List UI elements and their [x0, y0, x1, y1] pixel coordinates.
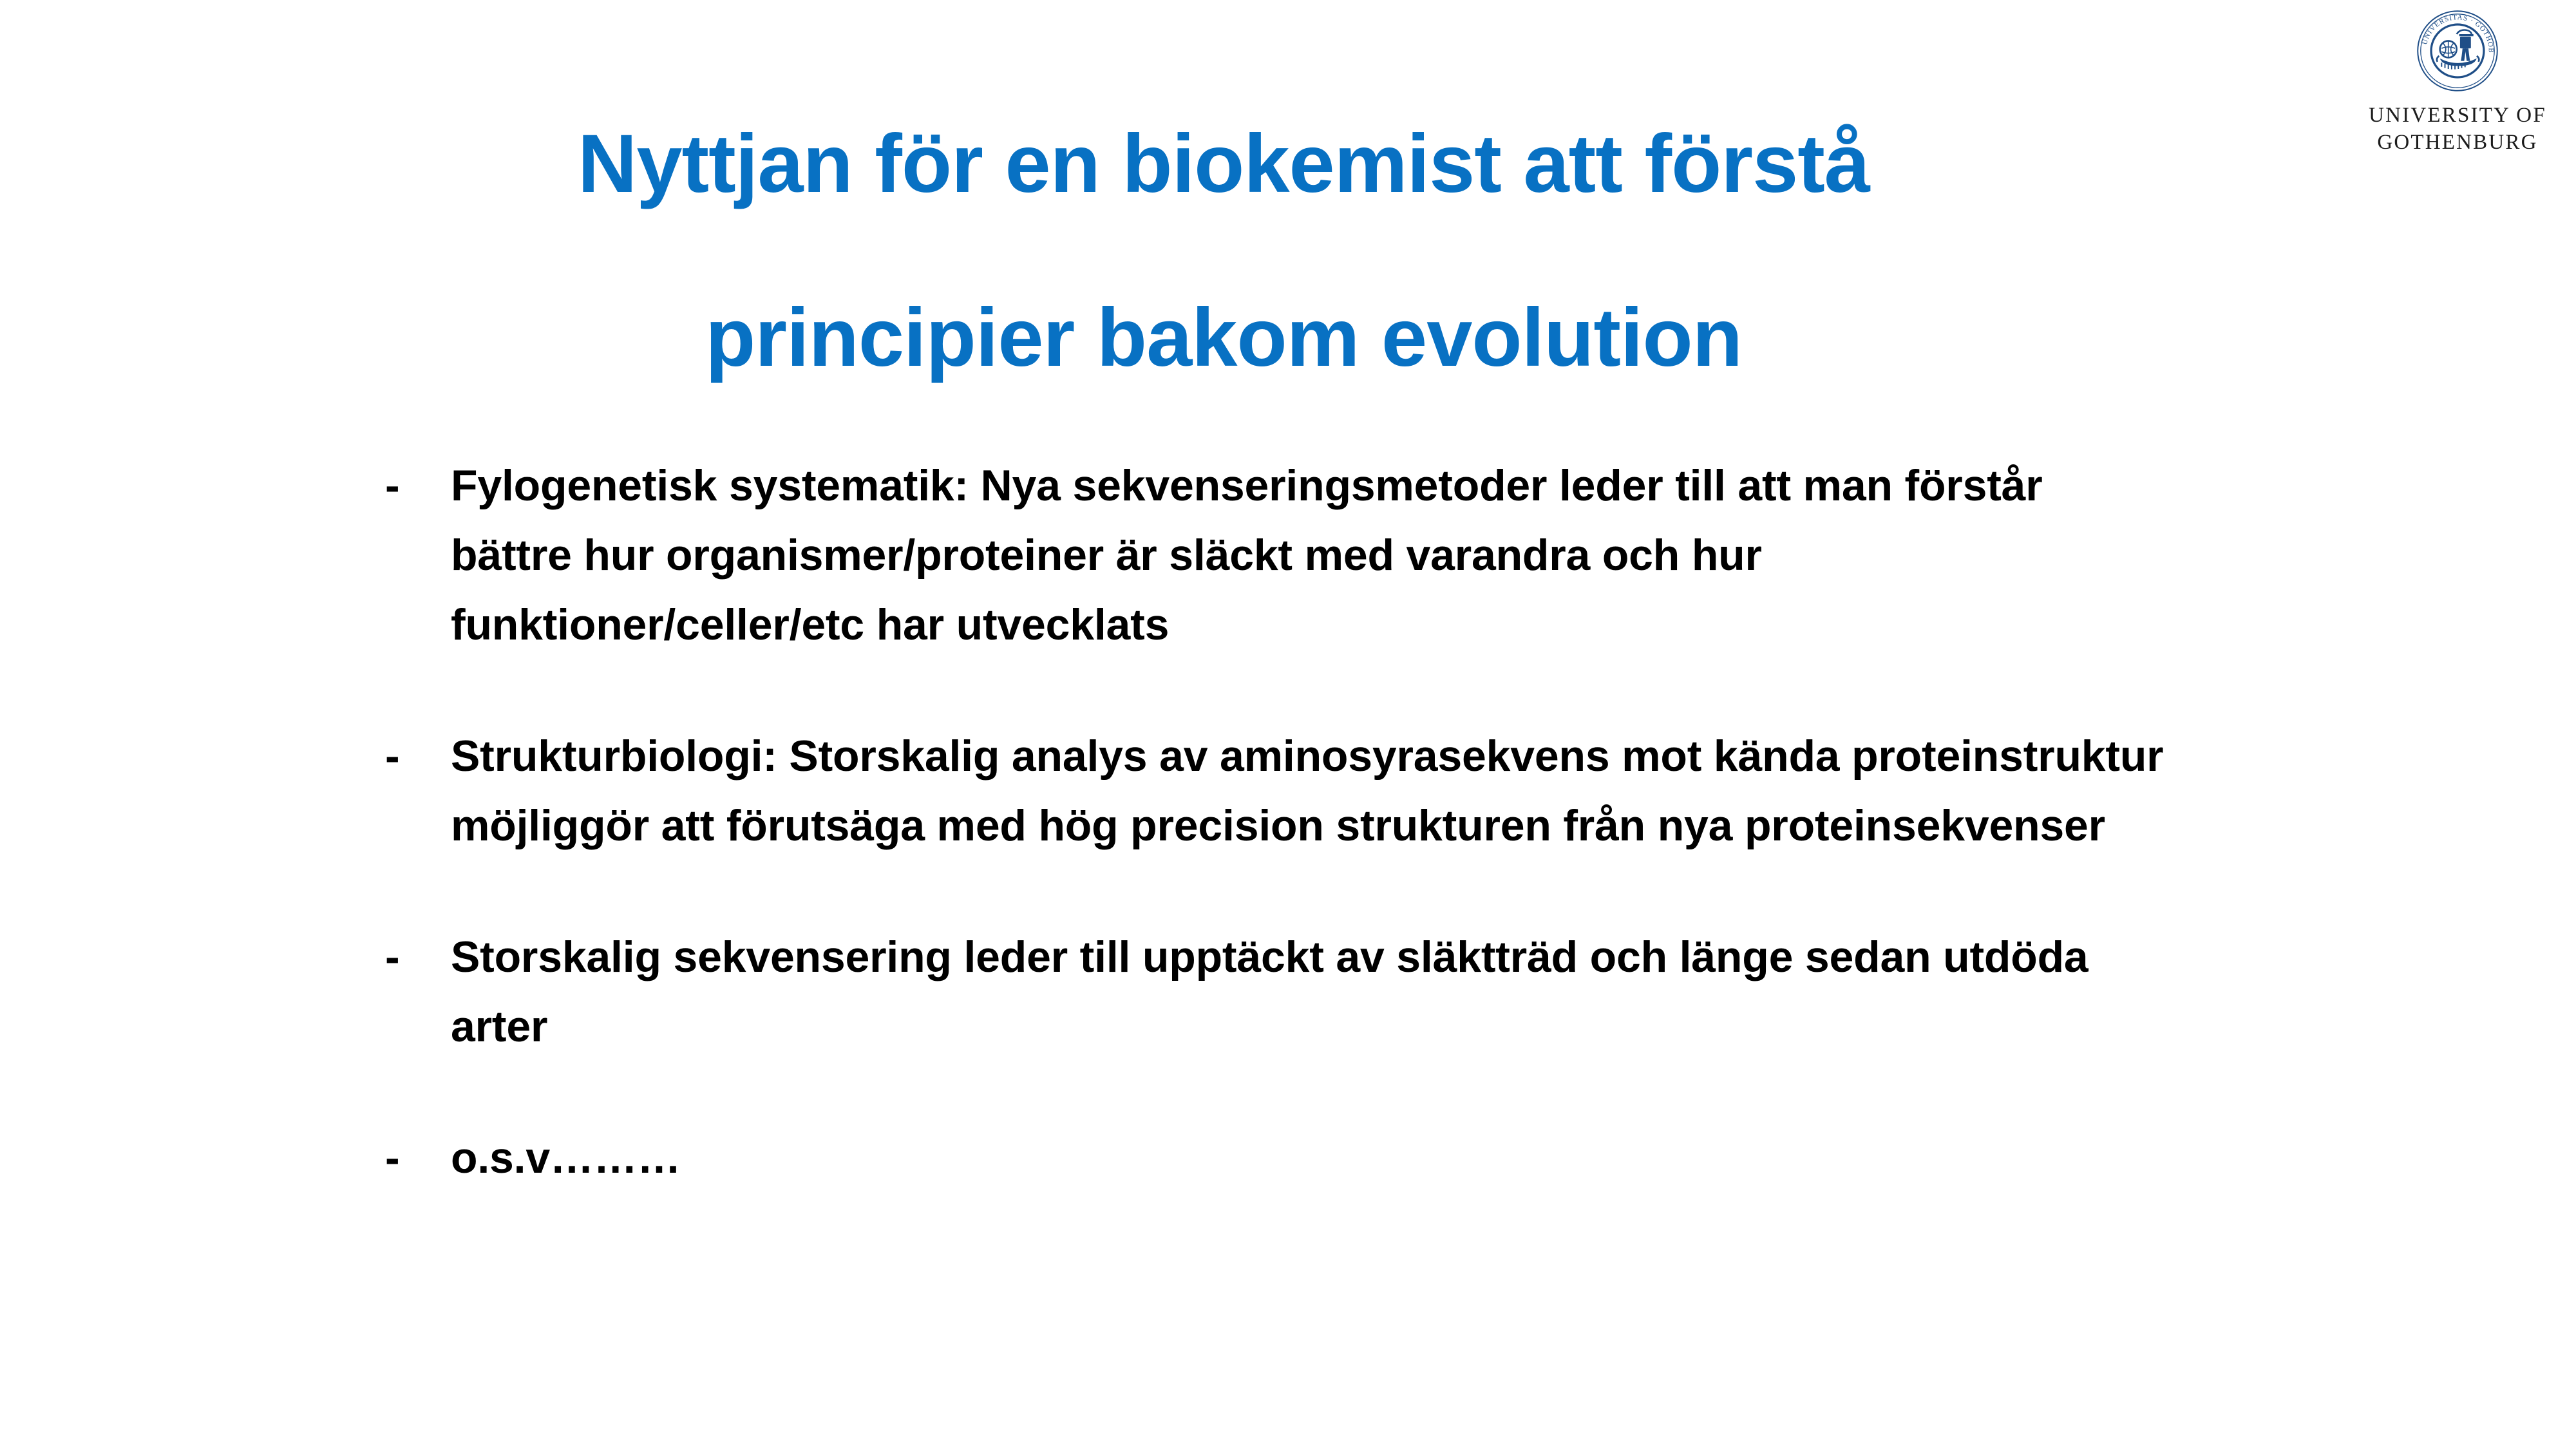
- list-item: - Strukturbiologi: Storskalig analys av …: [380, 721, 2312, 860]
- bullet-text-3: Storskalig sekvensering leder till upptä…: [451, 922, 2138, 1061]
- bullet-text-1: Fylogenetisk systematik: Nya sekvenserin…: [451, 451, 2132, 659]
- bullet-dash-icon: -: [385, 922, 400, 992]
- bullet-dash-icon: -: [385, 1123, 400, 1193]
- list-item: - Fylogenetisk systematik: Nya sekvenser…: [380, 451, 2312, 659]
- university-seal-icon: UNIVERSITAS · GOTHOBURGENSIS · 1891 ·: [2416, 9, 2499, 93]
- title-line-1: Nyttjan för en biokemist att förstå: [193, 77, 2254, 251]
- logo-wordmark-line-2: GOTHENBURG: [2354, 129, 2561, 156]
- bullet-dash-icon: -: [385, 451, 400, 520]
- page-title: Nyttjan för en biokemist att förstå prin…: [193, 77, 2254, 425]
- list-item: - Storskalig sekvensering leder till upp…: [380, 922, 2312, 1061]
- university-logo: UNIVERSITAS · GOTHOBURGENSIS · 1891 · UN…: [2354, 9, 2561, 156]
- logo-wordmark-line-1: UNIVERSITY OF: [2354, 102, 2561, 129]
- list-item: - o.s.v………: [380, 1123, 2312, 1193]
- slide-canvas: Nyttjan för en biokemist att förstå prin…: [0, 0, 2576, 1449]
- bullet-text-4: o.s.v………: [451, 1123, 1739, 1193]
- bullet-text-2: Strukturbiologi: Storskalig analys av am…: [451, 721, 2238, 860]
- bullet-list: - Fylogenetisk systematik: Nya sekvenser…: [380, 451, 2312, 1193]
- title-line-2: principier bakom evolution: [193, 251, 2254, 425]
- bullet-dash-icon: -: [385, 721, 400, 791]
